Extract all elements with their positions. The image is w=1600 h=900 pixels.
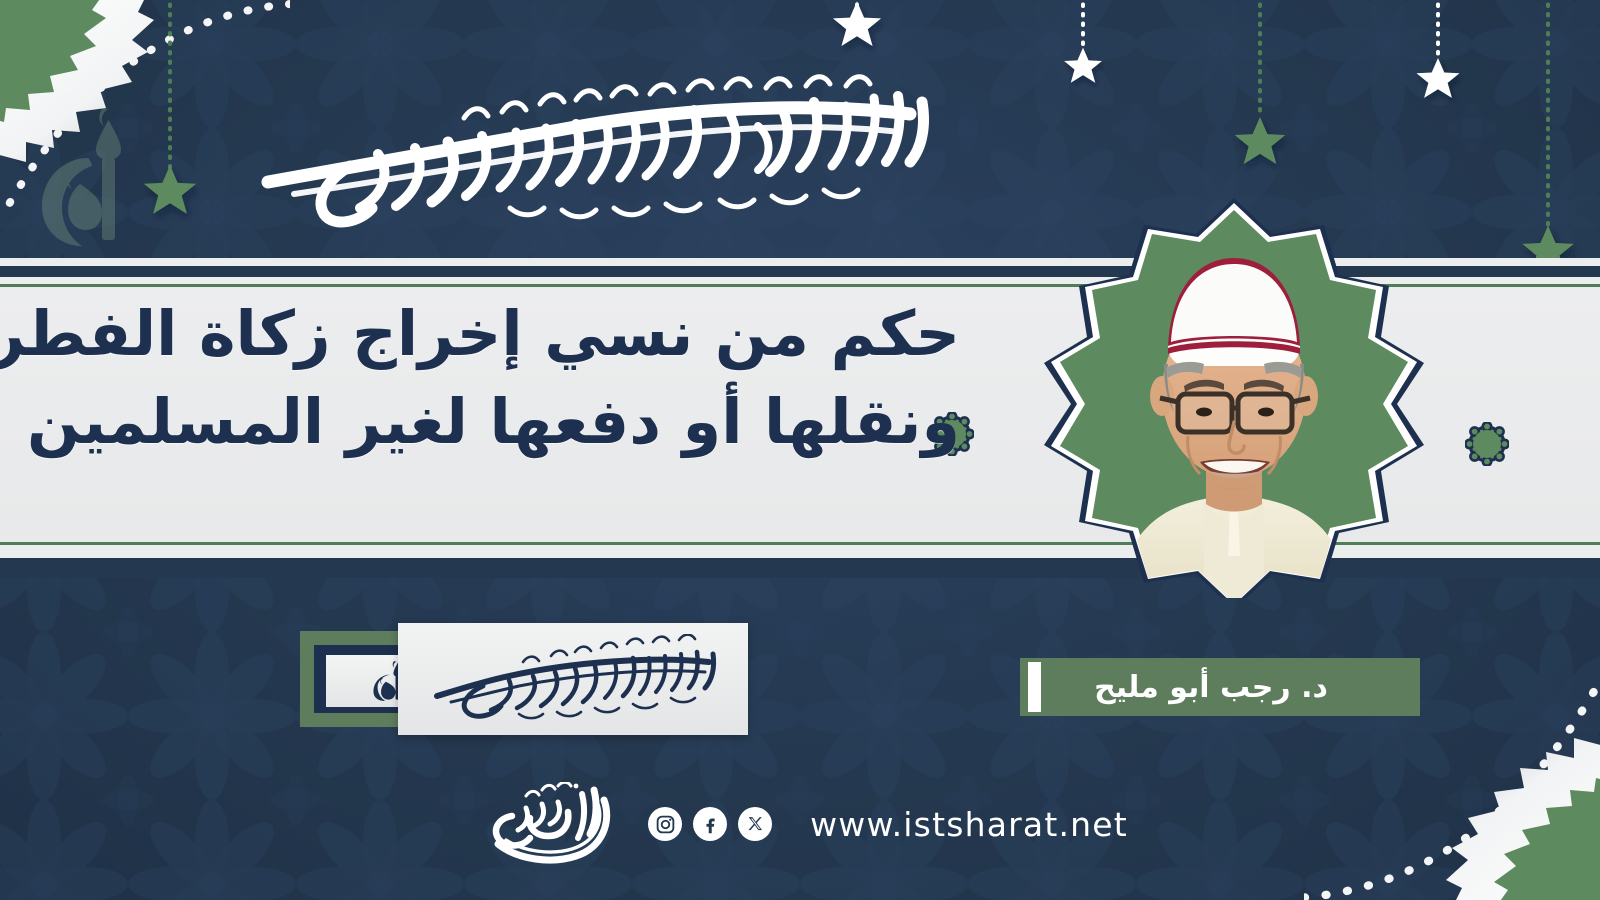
portal-title-calligraphy (210, 62, 950, 232)
scholar-portrait (1008, 196, 1460, 598)
x-twitter-glyph (745, 814, 766, 835)
social-links[interactable] (648, 807, 772, 841)
headline-text: حكم من نسي إخراج زكاة الفطر ونقلها أو دف… (80, 290, 960, 466)
al-mujtama-logo (472, 782, 622, 866)
scholar-name-text: د. رجب أبو مليح (1094, 670, 1346, 705)
poster-root: حكم من نسي إخراج زكاة الفطر ونقلها أو دف… (0, 0, 1600, 900)
facebook-icon[interactable] (693, 807, 727, 841)
fiqh-badge-plate (398, 623, 748, 735)
facebook-glyph (700, 814, 721, 835)
footer-bar: www.istsharat.net (0, 778, 1600, 870)
fiqh-badge-calligraphy (423, 634, 723, 724)
website-url[interactable]: www.istsharat.net (810, 805, 1128, 844)
headline-line-1: حكم من نسي إخراج زكاة الفطر (80, 290, 960, 378)
instagram-glyph (655, 814, 676, 835)
rosette-ornament-right (1465, 422, 1509, 466)
scholar-name-badge: د. رجب أبو مليح (1020, 658, 1420, 716)
headline-line-2: ونقلها أو دفعها لغير المسلمين (80, 378, 960, 466)
portal-title-calligraphy-art (210, 62, 950, 232)
fiqh-consultations-badge (300, 623, 748, 735)
instagram-icon[interactable] (648, 807, 682, 841)
x-twitter-icon[interactable] (738, 807, 772, 841)
